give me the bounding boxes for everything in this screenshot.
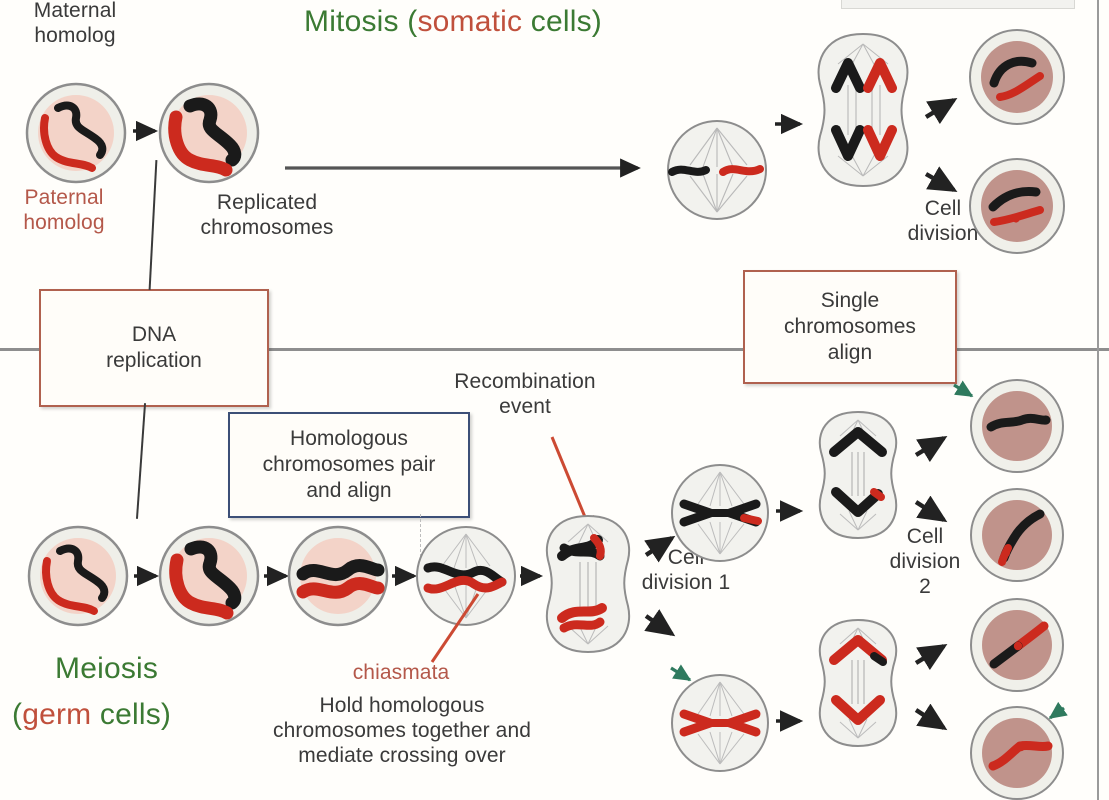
cell-gamete-1 (971, 380, 1063, 472)
arrow-to-gamete-3 (916, 646, 944, 663)
green-pointer-upper (954, 385, 972, 396)
cell-meiosis-anaphase-I (547, 516, 629, 652)
cell-mitosis-metaphase (668, 121, 766, 219)
cell-meiosis-germ-unreplicated (29, 527, 127, 625)
cell-mitosis-anaphase (819, 34, 908, 186)
cell-mitosis-parent-unreplicated (27, 84, 125, 182)
diagram-canvas: Mitosis (somatic cells) Meiosis (germ ce… (0, 0, 1109, 800)
arrow-div1-top (646, 538, 672, 555)
arrow-to-daughter-2 (926, 174, 954, 190)
cell-meiosis-metaphase-II-top (672, 465, 768, 561)
cell-gamete-3 (971, 599, 1063, 691)
cell-meiosis-germ-replicated (160, 527, 258, 625)
cell-mitosis-parent-replicated (160, 84, 258, 182)
green-pointer-gamete4 (1050, 708, 1064, 718)
cell-mitosis-daughter-1 (970, 30, 1064, 124)
arrow-to-gamete-4 (916, 710, 944, 728)
arrow-to-gamete-1 (916, 438, 944, 455)
cell-gamete-2 (971, 489, 1063, 581)
arrow-to-gamete-2 (916, 502, 944, 520)
cell-meiosis-anaphase-II-bottom (820, 620, 896, 746)
cell-meiosis-anaphase-II-top (820, 412, 896, 538)
cell-meiosis-homologs-paired (289, 527, 387, 625)
cell-meiosis-metaphase-II-bottom (672, 675, 768, 771)
arrow-to-daughter-1 (926, 100, 954, 117)
green-pointer-lower (671, 668, 690, 680)
cell-gamete-4 (971, 707, 1063, 799)
arrow-div1-bottom (646, 616, 672, 634)
diagram-artwork (0, 0, 1109, 800)
cell-mitosis-daughter-2 (970, 159, 1064, 253)
